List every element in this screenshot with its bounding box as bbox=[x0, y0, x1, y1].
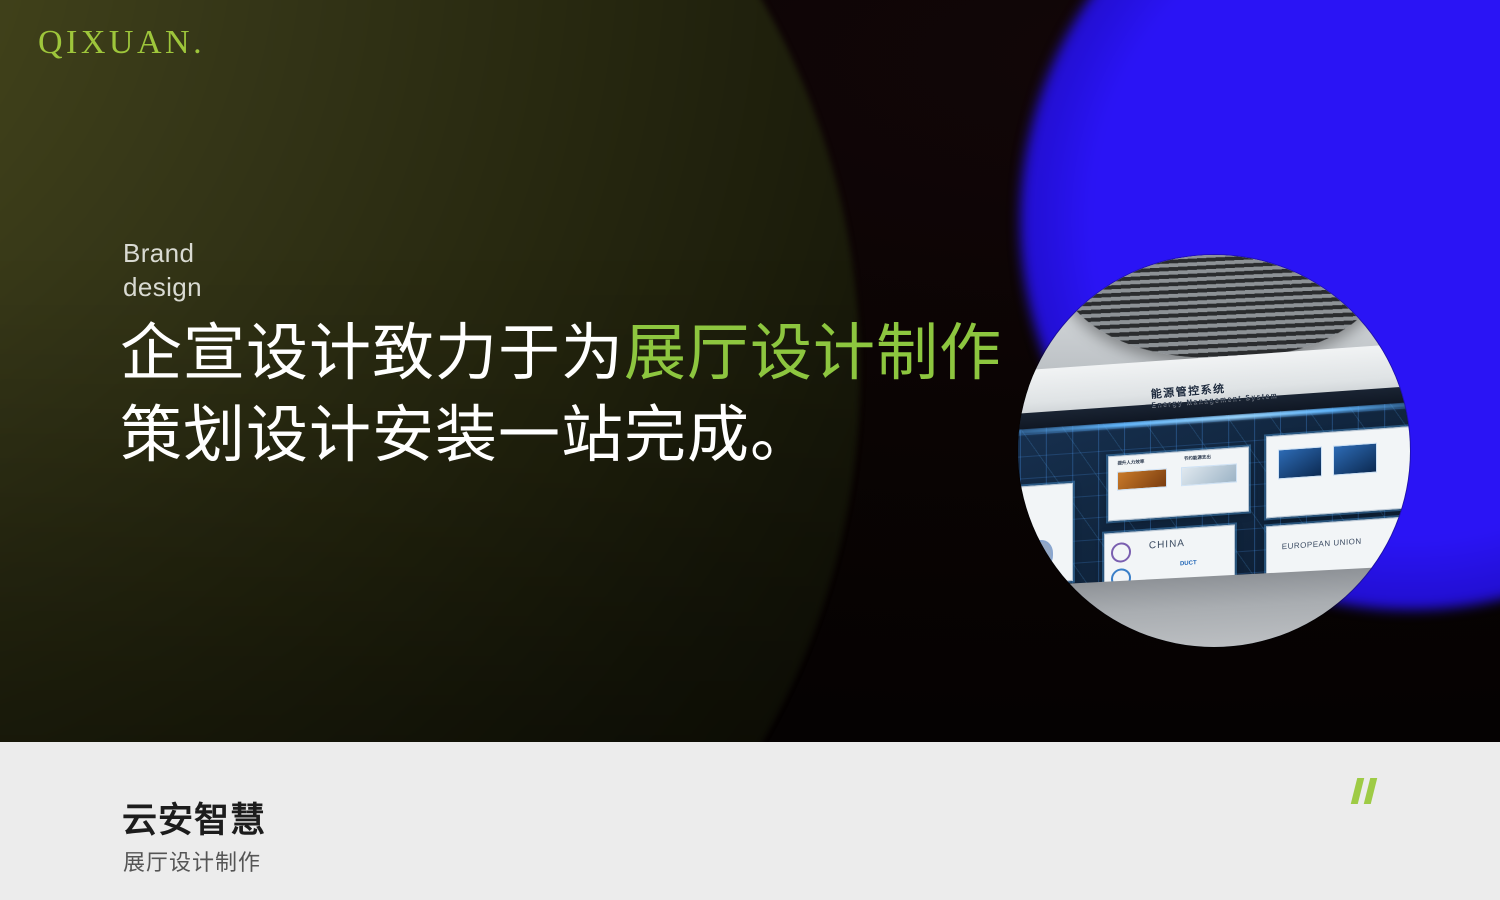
headline-plain-text: 企宣设计致力于为 bbox=[120, 319, 624, 388]
quote-stroke-left bbox=[1351, 778, 1364, 804]
footer-title: 云安智慧 bbox=[122, 792, 266, 843]
quote-stroke-right bbox=[1364, 778, 1377, 804]
photo-panel-cn-1: 提升人力效率 bbox=[1118, 459, 1145, 467]
poster-canvas: QIXUAN. Brand design 企宣设计致力于为展厅设计制作 策划设计… bbox=[0, 0, 1500, 900]
headline-line-2: 策划设计安装一站完成。 bbox=[120, 395, 1002, 477]
photo-panel-ring bbox=[1112, 542, 1132, 563]
exhibition-hall-photo: 能源管控系统 Energy Management System 提升人力效率 节… bbox=[1018, 255, 1410, 647]
photo-panel-cn-2: 节约能源支出 bbox=[1184, 454, 1211, 462]
footer-subtitle: 展厅设计制作 bbox=[123, 845, 261, 877]
photo-panel-label-duct: DUCT bbox=[1180, 560, 1197, 567]
photo-panel-thumb bbox=[1118, 468, 1168, 490]
headline-accent-text: 展厅设计制作 bbox=[624, 319, 1002, 388]
photo-panel-dot bbox=[1028, 539, 1054, 571]
photo-panel-label-china: CHINA bbox=[1149, 538, 1185, 552]
photo-screen bbox=[1333, 442, 1377, 475]
page-title: 企宣设计致力于为展厅设计制作 策划设计安装一站完成。 bbox=[120, 313, 1002, 477]
photo-screen bbox=[1279, 446, 1323, 479]
eyebrow-line-2: design bbox=[123, 270, 202, 304]
photo-eu-emblem bbox=[1388, 542, 1410, 566]
photo-panel-right bbox=[1267, 424, 1410, 518]
photo-panel-dot bbox=[1018, 529, 1021, 553]
photo-panel-label-eu: EUROPEAN UNION bbox=[1282, 536, 1362, 551]
brand-logo[interactable]: QIXUAN. bbox=[38, 26, 205, 60]
eyebrow-label: Brand design bbox=[123, 236, 202, 304]
quote-mark-icon bbox=[1352, 778, 1392, 812]
headline-line-1: 企宣设计致力于为展厅设计制作 bbox=[120, 313, 1002, 395]
photo-panel-thumb bbox=[1182, 463, 1237, 486]
photo-panel-left bbox=[1018, 483, 1074, 587]
photo-panel-center-top: 提升人力效率 节约能源支出 bbox=[1109, 446, 1249, 521]
hero-section: QIXUAN. Brand design 企宣设计致力于为展厅设计制作 策划设计… bbox=[0, 0, 1500, 742]
eyebrow-line-1: Brand bbox=[123, 236, 202, 270]
footer-bar: 云安智慧 展厅设计制作 bbox=[0, 742, 1500, 900]
